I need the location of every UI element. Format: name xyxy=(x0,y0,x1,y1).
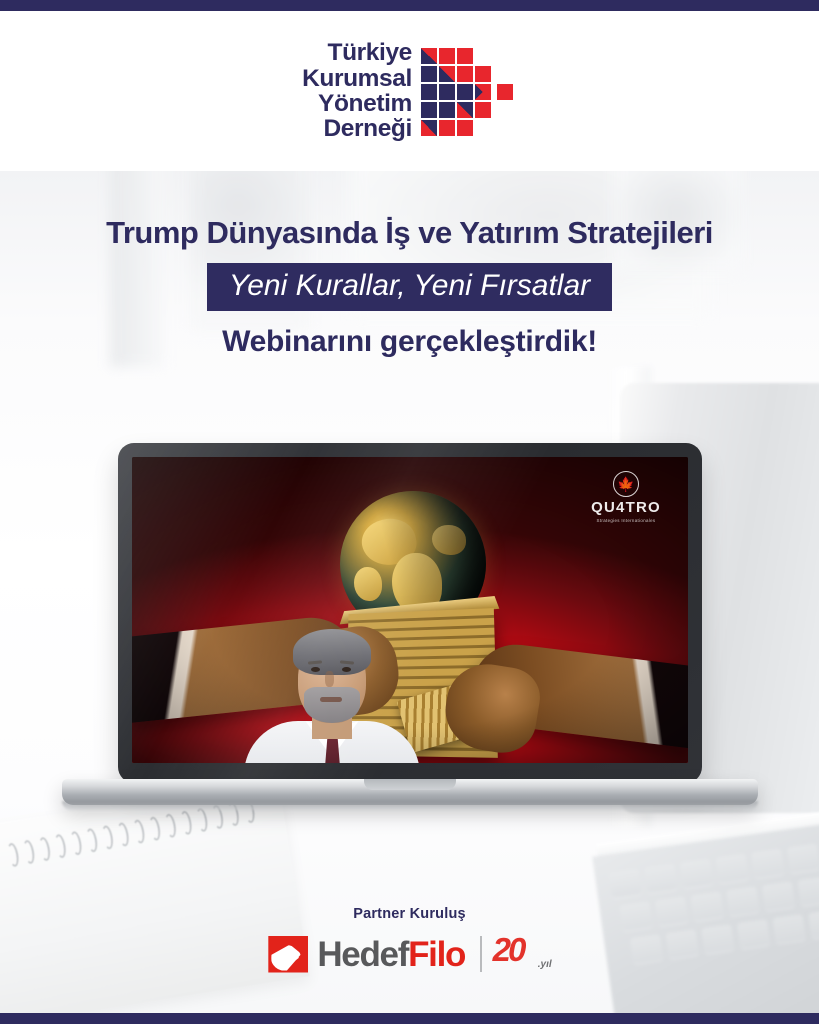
speaker-video-overlay xyxy=(250,617,410,763)
logo-divider xyxy=(480,936,482,972)
grid-cell-r4c2 xyxy=(439,102,455,118)
laptop-lid: 🍁 QU4TRO Strategies Internationales xyxy=(118,443,702,783)
laptop-screen: 🍁 QU4TRO Strategies Internationales xyxy=(132,457,688,763)
spiral-ring xyxy=(148,816,162,841)
spiral-ring xyxy=(195,807,209,832)
headline-banner: Yeni Kurallar, Yeni Fırsatlar xyxy=(207,263,612,312)
grid-cell-r2c4 xyxy=(475,66,491,82)
grid-cell-r4c4 xyxy=(475,102,491,118)
key xyxy=(680,858,713,888)
key xyxy=(609,869,642,899)
assoc-line-4: Derneği xyxy=(302,116,412,141)
hedeffilo-logo: HedefFilo 20 .yıl xyxy=(268,935,550,973)
webinar-artwork: 🍁 QU4TRO Strategies Internationales xyxy=(132,457,688,763)
key xyxy=(787,843,819,873)
maple-leaf-icon: 🍁 xyxy=(613,471,639,497)
laptop-mockup: 🍁 QU4TRO Strategies Internationales xyxy=(118,443,702,803)
spiral-ring xyxy=(69,830,83,855)
key xyxy=(644,863,677,893)
key xyxy=(798,876,819,906)
hedeffilo-swoosh-icon xyxy=(268,936,308,973)
poster-canvas: Türkiye Kurumsal Yönetim Derneği xyxy=(0,0,819,1024)
association-name: Türkiye Kurumsal Yönetim Derneği xyxy=(302,40,412,142)
wordmark-hedef: Hedef xyxy=(317,935,408,974)
grid-cell-r3c4-arrow xyxy=(475,84,491,100)
spiral-ring xyxy=(179,810,193,835)
spiral-ring xyxy=(38,836,52,861)
anniversary-number: 20 xyxy=(493,933,524,966)
spiral-ring xyxy=(163,813,177,838)
spiral-ring xyxy=(22,839,36,864)
headline-title: Trump Dünyasında İş ve Yatırım Stratejil… xyxy=(0,216,819,251)
assoc-line-3: Yönetim xyxy=(302,91,412,116)
association-grid-mark xyxy=(421,48,517,134)
grid-cell-r2c2 xyxy=(439,66,455,82)
speaker-eye-left xyxy=(311,667,320,672)
speaker-mouth xyxy=(320,697,342,702)
top-accent-bar xyxy=(0,0,819,11)
spiral-ring xyxy=(100,825,114,850)
assoc-line-1: Türkiye xyxy=(302,40,412,65)
spiral-ring xyxy=(132,819,146,844)
wordmark-filo: Filo xyxy=(408,935,465,974)
association-logo: Türkiye Kurumsal Yönetim Derneği xyxy=(302,40,517,142)
key xyxy=(716,853,749,883)
grid-cell-r1c3 xyxy=(457,48,473,64)
speaker-hair xyxy=(293,629,371,675)
laptop-base-notch xyxy=(364,779,456,790)
speaker-eye-right xyxy=(342,667,351,672)
grid-cell-r1c2 xyxy=(439,48,455,64)
bottom-accent-bar xyxy=(0,1013,819,1024)
grid-cell-r3c2 xyxy=(439,84,455,100)
headline-subtitle: Webinarını gerçekleştirdik! xyxy=(0,325,819,359)
header-band: Türkiye Kurumsal Yönetim Derneği xyxy=(0,11,819,171)
spiral-ring xyxy=(85,828,99,853)
grid-cell-r3c5 xyxy=(497,84,513,100)
quatro-watermark: 🍁 QU4TRO Strategies Internationales xyxy=(584,471,668,523)
anniversary-badge: 20 .yıl xyxy=(493,935,551,973)
grid-cell-r4c1 xyxy=(421,102,437,118)
anniversary-suffix: .yıl xyxy=(538,959,552,970)
partner-section: Partner Kuruluş HedefFilo 20 .yıl xyxy=(0,906,819,978)
laptop-base-shadow xyxy=(62,801,758,810)
grid-cell-r5c2 xyxy=(439,120,455,136)
grid-cell-r5c3 xyxy=(457,120,473,136)
partner-label: Partner Kuruluş xyxy=(0,906,819,922)
hedeffilo-wordmark: HedefFilo xyxy=(317,937,465,972)
grid-cell-r2c3 xyxy=(457,66,473,82)
key xyxy=(751,848,784,878)
grid-cell-r5c1 xyxy=(421,120,437,136)
grid-cell-r3c1 xyxy=(421,84,437,100)
speaker-nose xyxy=(325,671,334,687)
watermark-name: QU4TRO xyxy=(584,500,668,515)
speaker-beard xyxy=(304,687,360,723)
grid-cell-r4c3 xyxy=(457,102,473,118)
grid-cell-r2c1 xyxy=(421,66,437,82)
grid-cell-r1c1 xyxy=(421,48,437,64)
assoc-line-2: Kurumsal xyxy=(302,66,412,91)
watermark-tagline: Strategies Internationales xyxy=(584,518,668,523)
spiral-ring xyxy=(116,822,130,847)
spiral-ring xyxy=(53,833,67,858)
headline-block: Trump Dünyasında İş ve Yatırım Stratejil… xyxy=(0,216,819,359)
grid-cell-r3c3 xyxy=(457,84,473,100)
